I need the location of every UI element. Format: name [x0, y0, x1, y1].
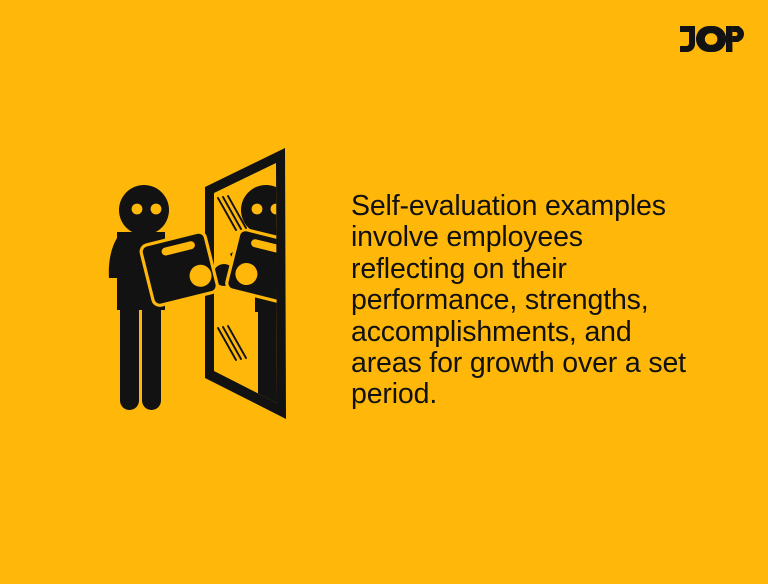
- slide-canvas: Self-evaluation examples involve employe…: [0, 0, 768, 584]
- self-evaluation-caption: Self-evaluation examples involve employe…: [351, 191, 703, 411]
- jop-logo-icon: [680, 26, 744, 52]
- mirrored-person-with-clipboard: [213, 185, 304, 410]
- illustration-graphic: [90, 138, 305, 433]
- person-leg-back: [120, 298, 139, 410]
- reflection-clipboard: [225, 228, 304, 304]
- person-looking-in-mirror-illustration: [90, 138, 305, 433]
- person-leg-front: [142, 298, 161, 410]
- person-head: [119, 185, 169, 235]
- mirror-shine-lines-bottom: [218, 326, 246, 360]
- jop-logo[interactable]: [680, 26, 744, 52]
- person-clipboard: [140, 231, 219, 307]
